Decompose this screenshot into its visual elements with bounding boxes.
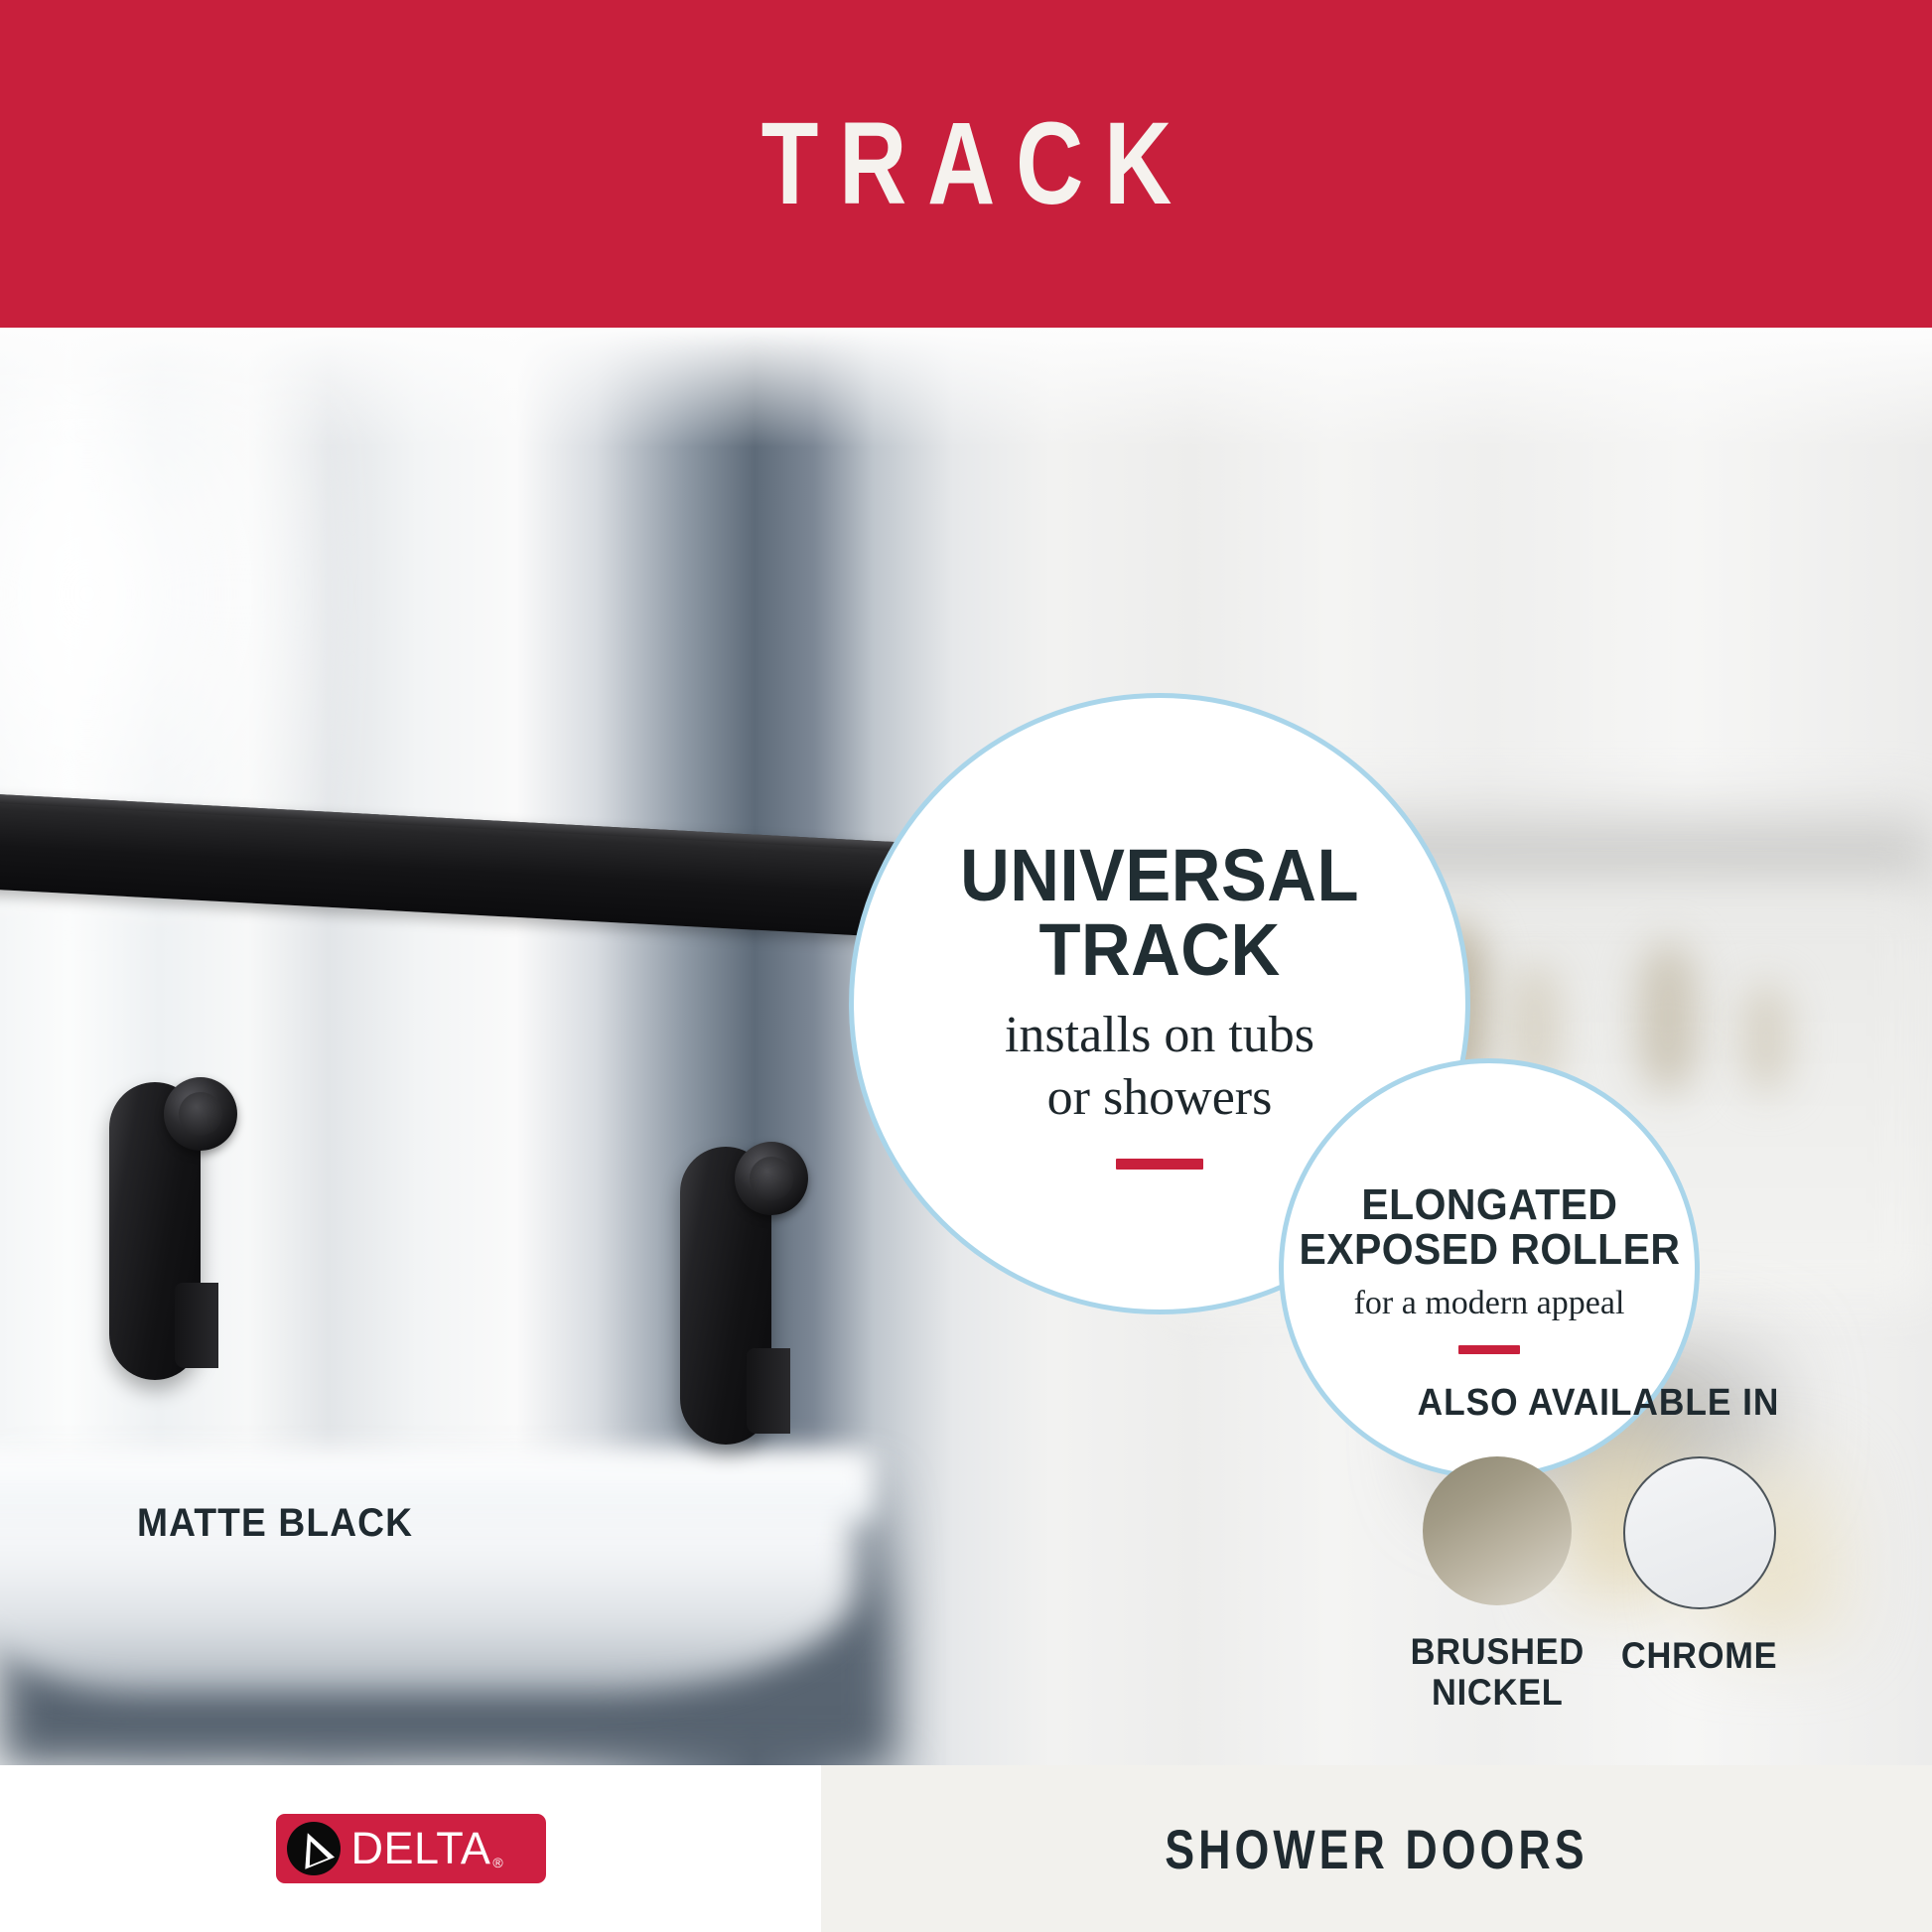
roller-hub (179, 1092, 222, 1136)
swatch-item-brushed-nickel[interactable]: BRUSHED NICKEL (1415, 1456, 1580, 1714)
page-title: TRACK (740, 105, 1191, 222)
header-banner: TRACK (0, 0, 1932, 328)
roller-hub (750, 1157, 793, 1200)
also-available-section: ALSO AVAILABLE IN BRUSHED NICKEL CHROME (1390, 1382, 1807, 1714)
finish-swatch-row: BRUSHED NICKEL CHROME (1390, 1456, 1807, 1714)
delta-logo[interactable]: DELTA ® (276, 1814, 546, 1883)
callout-subtext: installs on tubs or showers (1005, 1004, 1314, 1130)
bracket-hook (747, 1348, 790, 1434)
registered-trademark-icon: ® (492, 1855, 502, 1870)
product-feature-card: TRACK (0, 0, 1932, 1932)
callout-divider-dash (1116, 1159, 1203, 1170)
product-category-label: SHOWER DOORS (1165, 1817, 1587, 1881)
callout-divider-dash (1458, 1345, 1520, 1354)
delta-triangle-icon (287, 1822, 341, 1875)
track-rail-highlight (0, 792, 1043, 859)
callout-headline: ELONGATED EXPOSED ROLLER (1299, 1183, 1680, 1273)
bracket-hook (175, 1283, 218, 1368)
chrome-swatch-icon[interactable] (1623, 1456, 1776, 1609)
brand-wordmark: DELTA (351, 1823, 491, 1874)
callout-subtext: for a modern appeal (1354, 1283, 1625, 1323)
also-available-title: ALSO AVAILABLE IN (1405, 1382, 1793, 1425)
swatch-label: CHROME (1621, 1635, 1777, 1676)
footer-brand-panel: DELTA ® (0, 1765, 821, 1932)
finish-label-matte-black: MATTE BLACK (137, 1501, 413, 1546)
product-photo: UNIVERSAL TRACK installs on tubs or show… (0, 328, 1932, 1765)
swatch-label: BRUSHED NICKEL (1410, 1631, 1584, 1714)
footer-category-panel: SHOWER DOORS (821, 1765, 1932, 1932)
brushed-nickel-swatch-icon[interactable] (1423, 1456, 1572, 1605)
callout-headline: UNIVERSAL TRACK (960, 838, 1359, 988)
swatch-item-chrome[interactable]: CHROME (1617, 1456, 1782, 1676)
footer: DELTA ® SHOWER DOORS (0, 1765, 1932, 1932)
